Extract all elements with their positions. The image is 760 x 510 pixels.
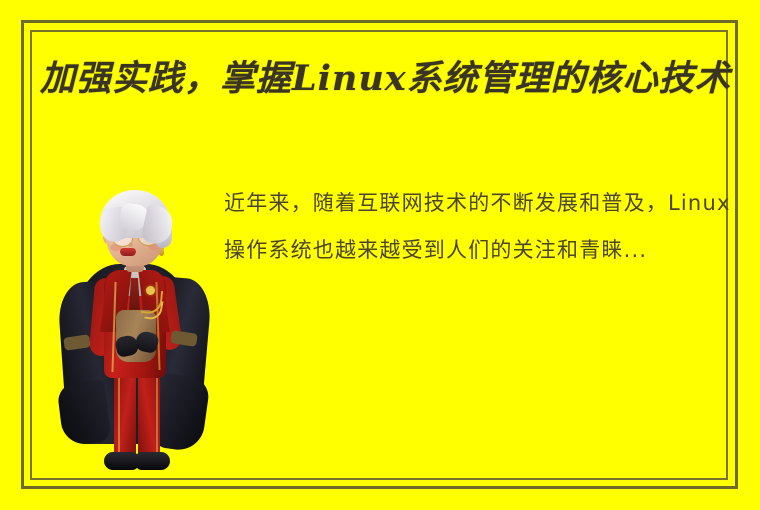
character-illustration (58, 186, 210, 476)
gold-emblem (146, 286, 155, 295)
poster-canvas: 加强实践，掌握Linux系统管理的核心技术 近年来，随着互联网技术的不断发展和普… (0, 0, 760, 510)
coat-hem-left (56, 379, 111, 446)
coat-hem-right (153, 373, 211, 453)
shoe-left (104, 452, 138, 470)
shoe-right (136, 452, 170, 470)
page-title: 加强实践，掌握Linux系统管理的核心技术 (40, 54, 740, 104)
mouth (120, 248, 136, 256)
trouser-stripe-left (118, 376, 120, 456)
body-paragraph: 近年来，随着互联网技术的不断发展和普及，Linux操作系统也越来越受到人们的关注… (224, 180, 740, 274)
trouser-stripe-right (156, 376, 158, 456)
